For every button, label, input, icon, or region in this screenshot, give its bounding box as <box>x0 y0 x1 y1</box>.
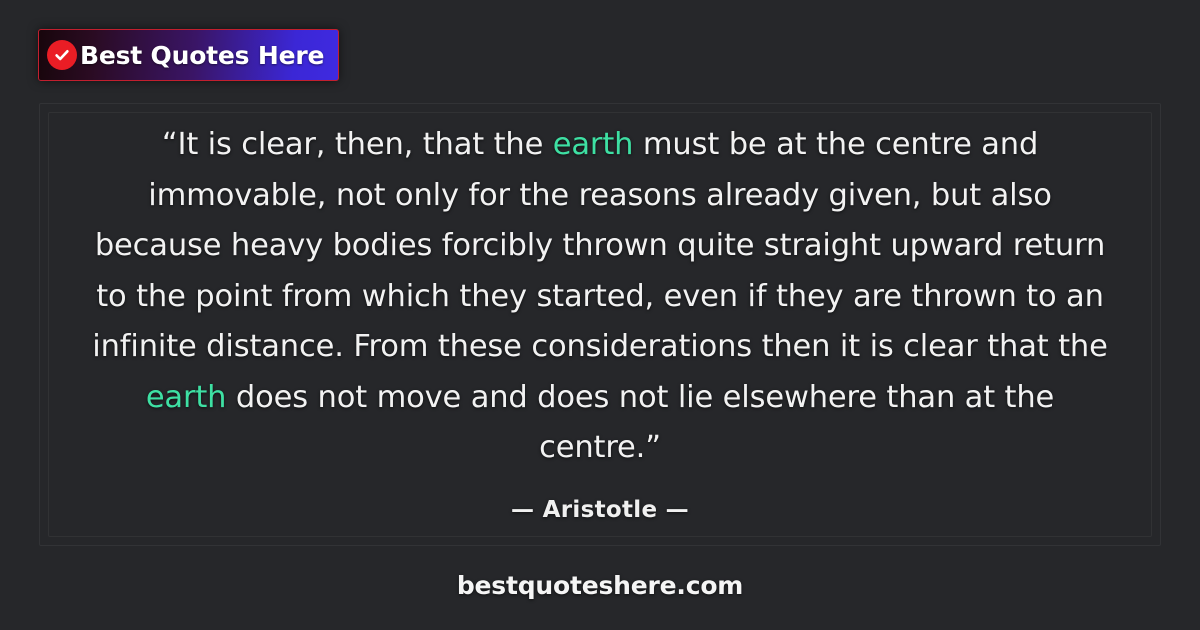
quote-card-page: Best Quotes Here “It is clear, then, tha… <box>0 0 1200 630</box>
site-url-footer[interactable]: bestquoteshere.com <box>0 571 1200 600</box>
quote-text: “It is clear, then, that the earth must … <box>83 120 1118 474</box>
check-circle-icon <box>47 40 77 70</box>
quote-segment-1: “It is clear, then, that the <box>162 127 553 162</box>
quote-highlight-earth-1: earth <box>553 127 634 162</box>
site-logo-label: Best Quotes Here <box>80 41 324 70</box>
quote-attribution: — Aristotle — <box>511 497 689 523</box>
site-logo-badge[interactable]: Best Quotes Here <box>38 29 339 81</box>
quote-segment-3: does not move and does not lie elsewhere… <box>226 380 1054 466</box>
quote-segment-2: must be at the centre and immovable, not… <box>92 127 1107 364</box>
quote-highlight-earth-2: earth <box>146 380 227 415</box>
quote-card: “It is clear, then, that the earth must … <box>48 112 1152 537</box>
